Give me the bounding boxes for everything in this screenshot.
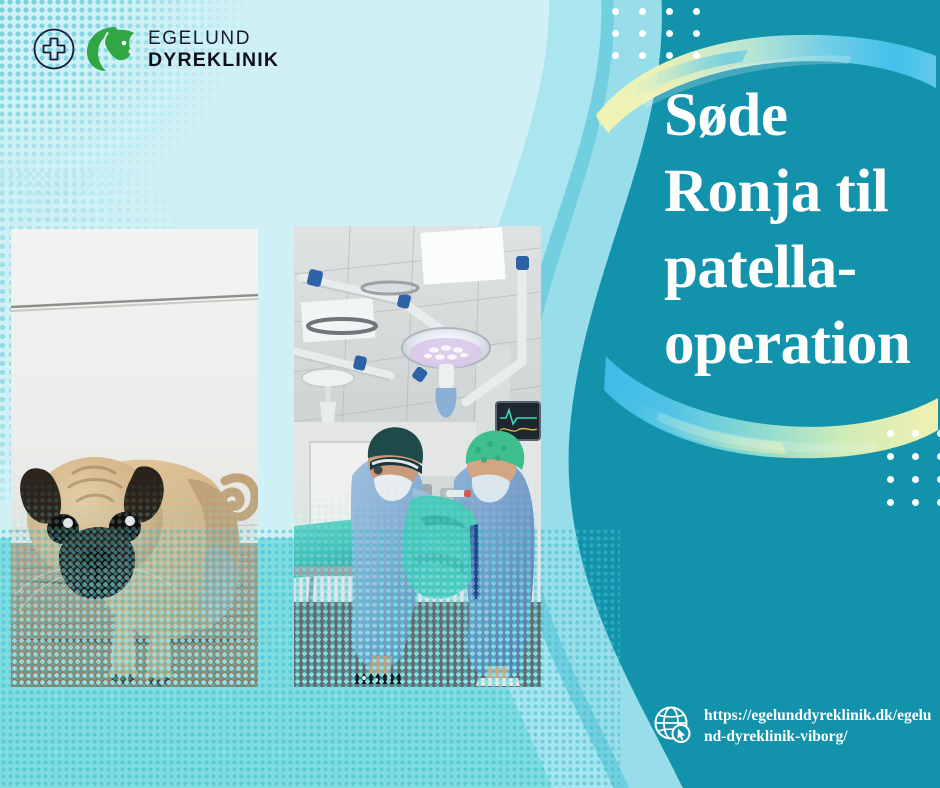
decor-dot — [912, 476, 919, 483]
globe-cursor-icon — [652, 704, 694, 746]
medical-cross-circle-icon — [32, 27, 76, 71]
url-line-1: https://egelunddyreklinik.dk/egelu — [704, 707, 932, 724]
decor-dot — [693, 30, 700, 37]
poster-canvas: EGELUND DYREKLINIK Søde Ronja til patell… — [0, 0, 940, 788]
dot-grid-bottom-right — [887, 430, 940, 506]
logo-wordmark: EGELUND DYREKLINIK — [148, 27, 279, 71]
website-url-block[interactable]: https://egelunddyreklinik.dk/egelu nd-dy… — [652, 703, 940, 747]
decor-dot — [666, 30, 673, 37]
photo-surgery — [294, 226, 541, 687]
decor-dot — [887, 453, 894, 460]
decor-dot — [693, 52, 700, 59]
decor-dot — [639, 8, 646, 15]
decor-dot — [666, 8, 673, 15]
website-url-text[interactable]: https://egelunddyreklinik.dk/egelu nd-dy… — [704, 703, 932, 747]
decor-dot — [912, 430, 919, 437]
logo-name-bottom: DYREKLINIK — [148, 51, 279, 71]
decor-dot — [639, 52, 646, 59]
decor-dot — [912, 499, 919, 506]
decor-dot — [887, 430, 894, 437]
decor-dot — [612, 30, 619, 37]
photo-dog — [11, 229, 258, 687]
decor-dot — [666, 52, 673, 59]
dot-grid-top-right — [612, 8, 700, 59]
decor-dot — [912, 453, 919, 460]
page-title: Søde Ronja til patella-operation — [664, 78, 932, 382]
dog-cat-silhouette-icon — [85, 25, 137, 73]
url-line-2: nd-dyreklinik-viborg/ — [704, 728, 848, 745]
clinic-logo[interactable]: EGELUND DYREKLINIK — [32, 25, 279, 73]
decor-dot — [693, 8, 700, 15]
decor-dot — [639, 30, 646, 37]
decor-dot — [887, 499, 894, 506]
logo-name-top: EGELUND — [148, 29, 279, 48]
decor-dot — [887, 476, 894, 483]
decor-dot — [612, 52, 619, 59]
decor-dot — [612, 8, 619, 15]
